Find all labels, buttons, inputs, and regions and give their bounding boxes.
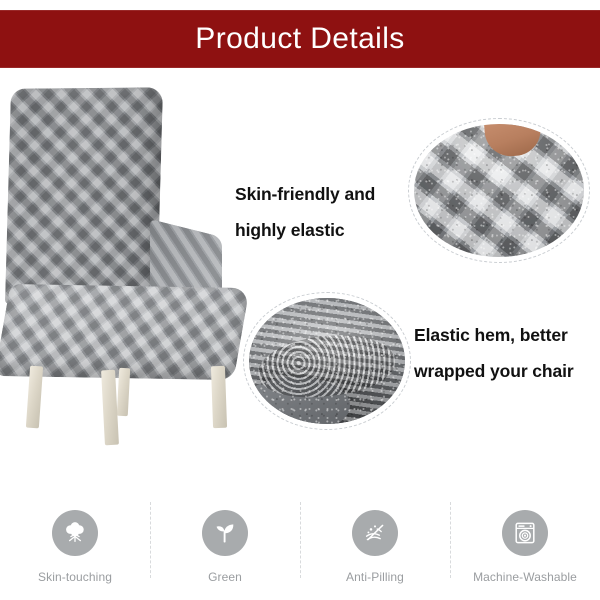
feature-icon-wrapper (502, 510, 548, 556)
chair-product-image (0, 78, 250, 428)
feature-item-skin-touching: Skin-touching (0, 500, 150, 584)
washing-machine-icon (512, 520, 538, 546)
feature-item-machine-washable: Machine-Washable (450, 500, 600, 584)
cotton-boll-icon (62, 520, 88, 546)
leaf-sprout-icon (212, 520, 238, 546)
callout-line-2: highly elastic (235, 212, 410, 248)
fabric-closeup-inset (408, 118, 590, 263)
feature-label: Anti-Pilling (346, 570, 404, 584)
callout-elastic-hem: Elastic hem, better wrapped your chair (414, 317, 600, 389)
callout-line-1: Elastic hem, better (414, 317, 600, 353)
feature-icon-wrapper (202, 510, 248, 556)
product-details-page: Product Details Skin-friendly and highly… (0, 0, 600, 600)
elastic-hem-closeup-inset (243, 292, 411, 430)
feature-label: Green (208, 570, 242, 584)
fabric-grain-overlay (249, 298, 405, 424)
elastic-hem-media (249, 298, 405, 424)
page-title: Product Details (195, 24, 404, 54)
feature-item-green: Green (150, 500, 300, 584)
feature-item-anti-pilling: Anti-Pilling (300, 500, 450, 584)
callout-line-2: wrapped your chair (414, 353, 600, 389)
anti-pilling-icon (362, 520, 388, 546)
chair-backrest (5, 87, 163, 304)
page-banner: Product Details (0, 10, 600, 68)
chair-leg (117, 368, 130, 417)
callout-skin-friendly: Skin-friendly and highly elastic (235, 176, 410, 248)
feature-icon-wrapper (52, 510, 98, 556)
feature-strip: Skin-touching Green (0, 500, 600, 600)
fabric-closeup-media (414, 124, 584, 257)
feature-label: Skin-touching (38, 570, 112, 584)
chair-leg (101, 370, 119, 446)
feature-icon-wrapper (352, 510, 398, 556)
feature-label: Machine-Washable (473, 570, 577, 584)
callout-line-1: Skin-friendly and (235, 176, 410, 212)
chair-leg (211, 366, 227, 428)
